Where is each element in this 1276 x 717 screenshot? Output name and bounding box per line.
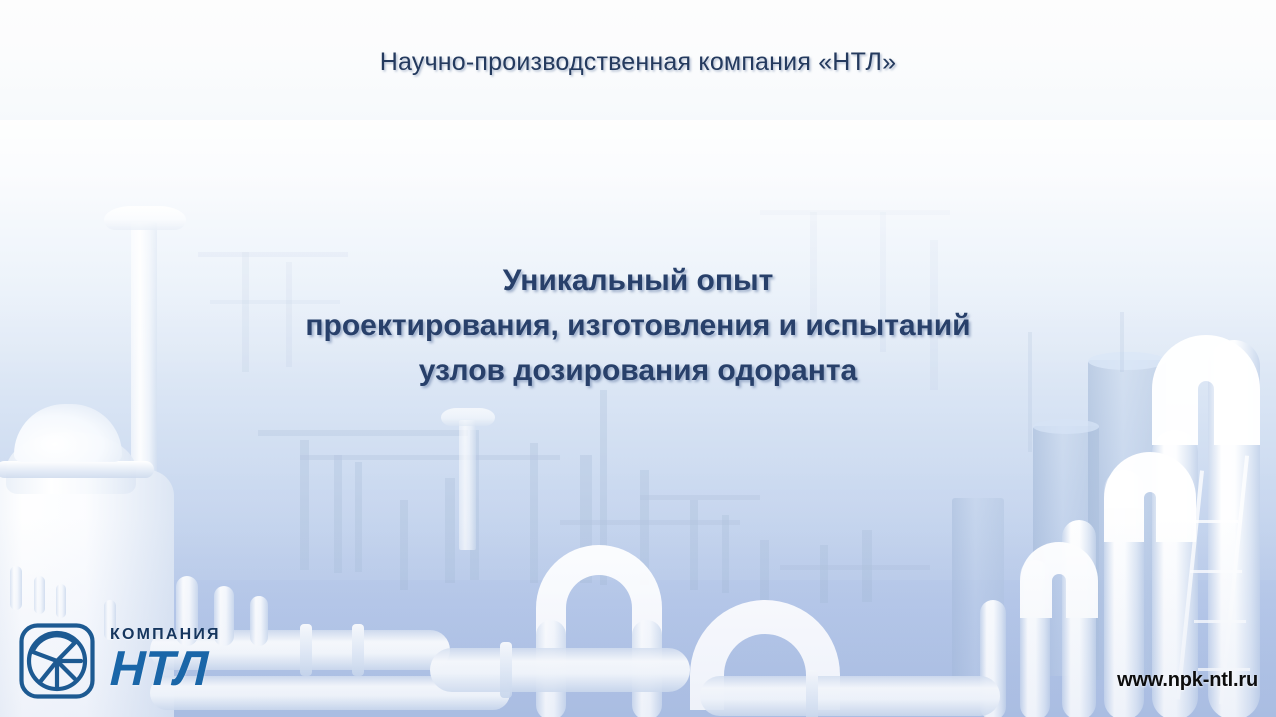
bg-stack [445,478,455,583]
bg-gantry [760,210,950,215]
bg-gantry [560,520,740,525]
title-line-1: Уникальный опыт [0,258,1276,303]
bg-stack [400,500,408,590]
bg-stack [334,455,342,573]
title-line-2: проектирования, изготовления и испытаний [0,303,1276,348]
bg-vessel-flange [0,461,154,478]
bg-gantry [640,495,760,500]
bg-tower-cap [441,408,495,426]
bg-railing [1194,620,1246,623]
bg-pipe-flange [806,670,818,717]
bg-pipe-flange [300,624,312,676]
company-logo: КОМПАНИЯ НТЛ [18,618,224,704]
bg-storage-tank [1033,426,1099,676]
bg-vessel-dome [14,404,122,462]
bg-stack [640,470,649,585]
bg-gantry [780,565,930,570]
bg-nozzle [34,576,45,614]
bg-stack [722,515,729,593]
bg-tower-cap [104,206,186,230]
bg-pipe-flange [352,624,364,676]
bg-railing [1186,520,1238,523]
bg-stack [300,440,309,570]
logo-wordmark: КОМПАНИЯ НТЛ [110,626,221,694]
bg-nozzle [10,566,22,610]
slide-main-title: Уникальный опыт проектирования, изготовл… [0,258,1276,393]
presentation-slide: Научно-производственная компания «НТЛ» У… [0,0,1276,717]
bg-gantry [300,455,560,460]
bg-vertical-pipe [250,596,268,646]
bg-railing [1190,570,1242,573]
bg-stack [820,545,828,603]
slide-header-title: Научно-производственная компания «НТЛ» [0,48,1276,77]
bg-storage-tank [952,498,1004,688]
bg-stack [600,390,607,585]
title-line-3: узлов дозирования одоранта [0,348,1276,393]
bg-stack [690,500,698,590]
bg-tank-rim [1033,419,1099,434]
bg-stack [760,540,769,600]
bg-vertical-pipe [1062,520,1096,717]
bg-pipe-elbow [1020,542,1098,618]
bg-stack [470,430,479,580]
bg-stack [530,443,538,583]
bg-railing [1219,455,1249,704]
bg-pipe-elbow [1104,452,1196,542]
bg-gantry [258,430,468,436]
bg-vertical-pipe [1020,560,1050,717]
bg-tower-column [459,420,476,550]
bg-stack [862,530,872,602]
ntl-gauge-mark-icon [18,622,96,700]
bg-railing [1176,470,1204,699]
bg-horizontal-pipe [700,676,1000,716]
bg-nozzle [56,584,66,618]
logo-brand-name: НТЛ [109,644,221,694]
bg-horizontal-pipe [430,648,690,692]
bg-stack [355,462,362,572]
bg-stack [580,455,592,583]
bg-vertical-pipe [536,620,566,717]
bg-vertical-pipe [980,600,1006,717]
bg-vertical-pipe [632,620,662,717]
bg-pipe-flange [500,642,512,698]
website-url[interactable]: www.npk-ntl.ru [1117,669,1258,692]
bg-pipe-elbow [536,545,662,665]
bg-storage-tank [1088,360,1166,680]
bg-vessel-neck [6,432,136,494]
bg-vertical-pipe [1208,340,1260,717]
bg-gantry [198,252,348,257]
bg-pipe-elbow [690,600,840,710]
